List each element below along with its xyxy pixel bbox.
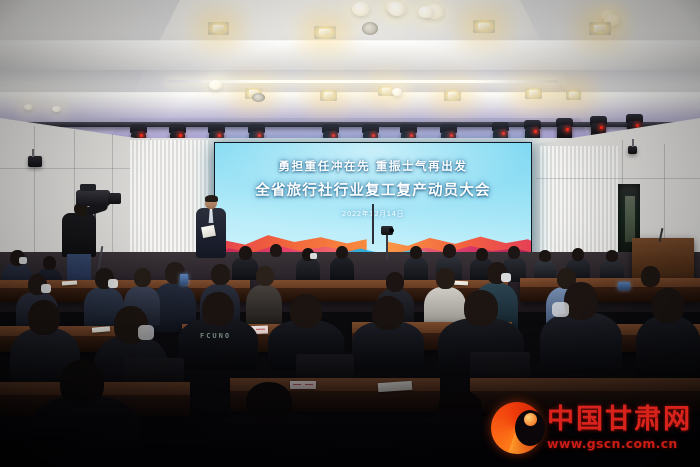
wall-panel-seam bbox=[536, 178, 700, 179]
watermark-brand: 中国甘肃网 bbox=[547, 406, 692, 433]
doorway-light bbox=[625, 196, 635, 242]
jacket-print-text: FCUNO bbox=[200, 332, 231, 340]
ceiling-recessed-light bbox=[314, 26, 336, 39]
ceiling-recessed-light bbox=[444, 90, 461, 101]
ceiling-vent bbox=[252, 93, 265, 102]
gscn-logo-icon bbox=[491, 402, 543, 454]
watermark: 中国甘肃网 www.gscn.com.cn bbox=[491, 397, 692, 459]
screen-glow bbox=[215, 143, 531, 213]
audience-person-foreground bbox=[210, 382, 330, 467]
audience-person-foreground bbox=[540, 282, 622, 374]
wall-speaker bbox=[28, 156, 42, 167]
audience-person-foreground bbox=[178, 292, 258, 370]
audience-person bbox=[296, 248, 320, 282]
ceiling-puck-light bbox=[352, 2, 370, 16]
video-camera bbox=[76, 190, 110, 206]
ceiling-recessed-light bbox=[525, 88, 542, 99]
audience-person bbox=[330, 246, 354, 282]
ceiling-puck-light bbox=[24, 104, 33, 110]
led-screen-surface: 勇担重任冲在先 重振士气再出发 全省旅行社行业复工复产动员大会 2022年12月… bbox=[215, 143, 531, 263]
ceiling-puck-light bbox=[392, 88, 402, 96]
wall-speaker bbox=[628, 146, 637, 154]
ceiling-recessed-light bbox=[566, 90, 581, 100]
audience-person-foreground bbox=[352, 296, 424, 370]
ceiling-strip-light bbox=[168, 80, 558, 83]
ceiling-recessed-light bbox=[320, 90, 337, 101]
ceiling-recessed-light bbox=[473, 20, 495, 33]
ceiling-puck-light bbox=[388, 2, 406, 16]
smartphone bbox=[180, 274, 188, 285]
ceiling-recessed-light bbox=[208, 22, 229, 35]
led-screen: 勇担重任冲在先 重振士气再出发 全省旅行社行业复工复产动员大会 2022年12月… bbox=[214, 142, 532, 264]
screen-headline: 勇担重任冲在先 重振士气再出发 bbox=[215, 158, 531, 174]
ceiling-puck-light bbox=[418, 6, 434, 18]
stage-speaker bbox=[194, 196, 228, 258]
ceiling-recessed-light bbox=[589, 22, 611, 35]
floor-camera bbox=[378, 226, 396, 260]
audience-person-foreground bbox=[30, 360, 140, 467]
watermark-url: www.gscn.com.cn bbox=[547, 436, 692, 451]
screen-subhead: 全省旅行社行业复工复产动员大会 bbox=[215, 179, 531, 200]
ceiling-soffit-upper bbox=[0, 40, 700, 70]
ceiling-vent bbox=[362, 22, 378, 35]
fluted-wall-right bbox=[540, 146, 618, 264]
ceiling-puck-light bbox=[52, 106, 61, 112]
conference-hall-photo: 勇担重任冲在先 重振士气再出发 全省旅行社行业复工复产动员大会 2022年12月… bbox=[0, 0, 700, 467]
audience-person-foreground bbox=[636, 288, 700, 376]
